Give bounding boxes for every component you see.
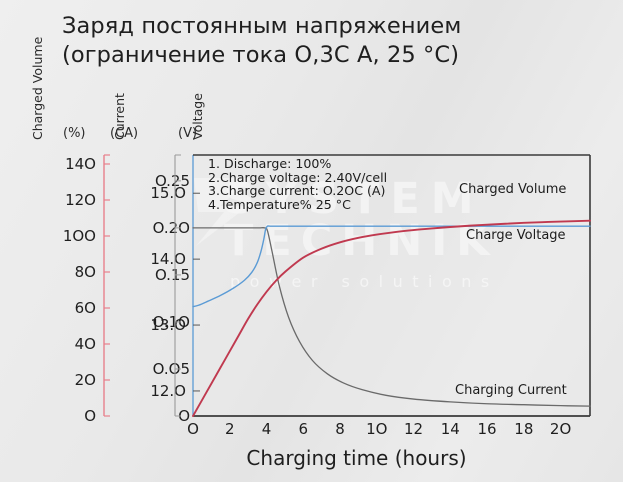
- note-item: 1. Discharge: 100%: [208, 157, 387, 171]
- series-label-charge-voltage: Charge Voltage: [466, 228, 566, 243]
- series-label-charging-current: Charging Current: [455, 383, 567, 398]
- series-label-charged-volume: Charged Volume: [459, 182, 566, 197]
- x-axis-title: Charging time (hours): [0, 446, 623, 470]
- chart-root: Заряд постоянным напряжением (ограничени…: [0, 0, 623, 482]
- x-axis-title-text: Charging time (hours): [246, 446, 466, 470]
- note-item: 3.Charge current: O.2OC (A): [208, 184, 387, 198]
- notes-box: 1. Discharge: 100% 2.Charge voltage: 2.4…: [208, 157, 387, 211]
- note-item: 4.Temperature% 25 °C: [208, 198, 387, 212]
- note-item: 2.Charge voltage: 2.40V/cell: [208, 171, 387, 185]
